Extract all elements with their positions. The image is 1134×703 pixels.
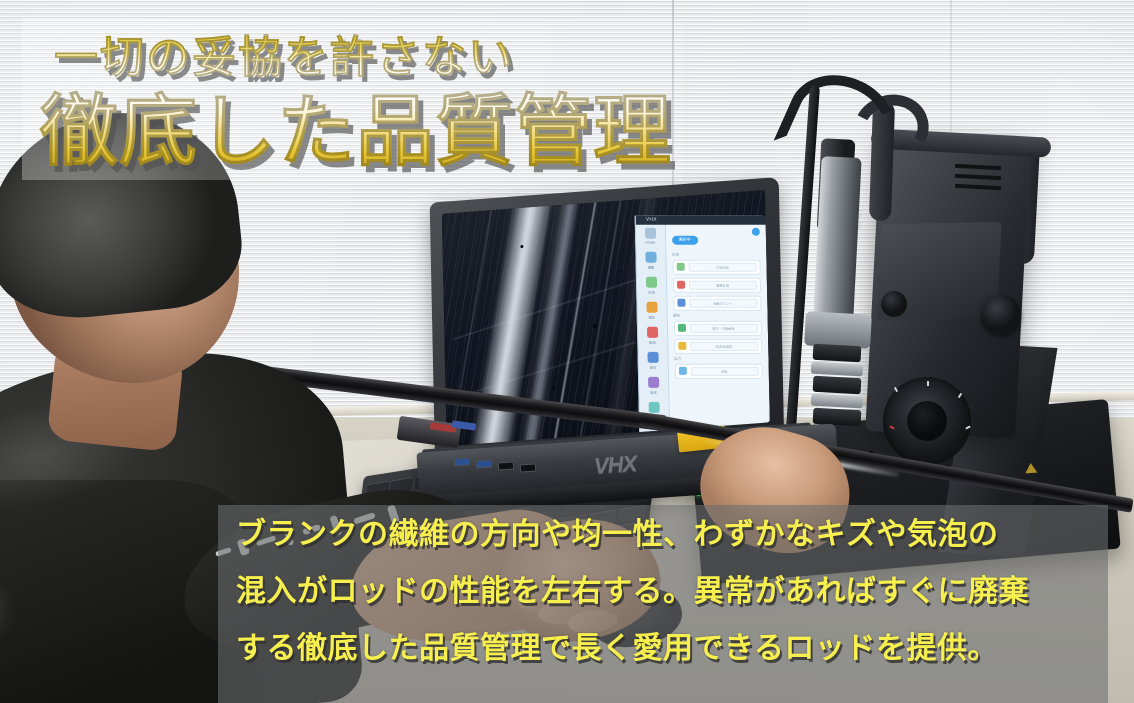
sidebar-label-measure: 計測: [648, 290, 655, 295]
row-button[interactable]: 粒子・欠陥解析: [690, 324, 758, 333]
row-icon: [677, 299, 685, 307]
folder-icon[interactable]: [648, 352, 659, 363]
sidebar-label-folder: 保存: [650, 365, 657, 370]
sidebar-label-home: HOME: [646, 241, 656, 245]
app-content: 選択中 計測 寸法計測 面積計測 自動カウント: [666, 216, 770, 441]
usb-port: [454, 457, 471, 466]
page-title: 徹底した品質管理: [40, 92, 672, 170]
caption-line-1: ブランクの繊維の方向や均一性、わずかなキズや気泡の: [236, 520, 1106, 550]
sidebar-label-report: 報告: [650, 340, 657, 345]
headline-eyebrow: 一切の妥協を許さない: [54, 36, 514, 80]
report-icon[interactable]: [647, 327, 658, 338]
section-label-analyze: 解析: [674, 314, 762, 319]
row-button[interactable]: 面積計測: [689, 280, 757, 289]
list-item[interactable]: 3D形状測定: [674, 339, 762, 354]
objective-aperture: [907, 401, 947, 441]
measure-icon[interactable]: [646, 277, 657, 288]
selected-tag: 選択中: [672, 235, 698, 244]
row-button[interactable]: 3D形状測定: [690, 342, 758, 351]
analyze-icon[interactable]: [647, 302, 658, 313]
list-item[interactable]: 自動カウント: [673, 295, 761, 310]
sidebar-label-camera: 撮影: [648, 265, 655, 270]
settings-icon[interactable]: [648, 377, 659, 388]
app-titlebar: VHX: [636, 216, 766, 225]
adjust-knob[interactable]: [881, 291, 907, 317]
usb-port: [476, 459, 493, 468]
app-title: VHX: [646, 217, 657, 223]
section-label-measure: 計測: [672, 252, 760, 257]
row-icon: [677, 263, 685, 271]
caption-line-3: する徹底した品質管理で長く愛用できるロッドを提供。: [236, 634, 1106, 664]
list-item[interactable]: 粒子・欠陥解析: [674, 321, 762, 336]
list-item[interactable]: 寸法計測: [672, 259, 760, 274]
usb-port: [498, 461, 515, 470]
microscope-software-panel[interactable]: VHX HOME 撮影 計測 解析 報告 保存: [635, 216, 770, 441]
caption-block: ブランクの繊維の方向や均一性、わずかなキズや気泡の 混入がロッドの性能を左右する…: [236, 520, 1106, 691]
sidebar-label-analyze: 解析: [649, 315, 656, 320]
row-button[interactable]: 自動カウント: [689, 298, 757, 307]
list-item[interactable]: 保存: [675, 364, 763, 379]
monitor-brand-logo: VHX: [593, 451, 637, 480]
row-button[interactable]: 保存: [691, 367, 759, 376]
row-icon: [677, 281, 685, 289]
camera-icon[interactable]: [646, 252, 657, 263]
row-icon: [678, 342, 686, 350]
warning-triangle-icon: [1025, 463, 1038, 474]
section-label-output: 出力: [674, 357, 762, 362]
row-button[interactable]: 寸法計測: [688, 262, 756, 271]
home-icon[interactable]: [645, 228, 656, 239]
sidebar-label-settings: 設定: [651, 390, 658, 395]
row-icon: [678, 324, 686, 332]
list-item[interactable]: 面積計測: [673, 277, 761, 292]
focus-knob[interactable]: [981, 295, 1021, 335]
usb-port: [520, 463, 537, 472]
caption-line-2: 混入がロッドの性能を左右する。異常があればすぐに廃棄: [236, 577, 1106, 607]
help-icon[interactable]: [649, 402, 660, 413]
row-icon: [679, 367, 687, 375]
promotional-banner: VHX VHX: [0, 0, 1134, 703]
app-avatar[interactable]: [752, 228, 760, 236]
